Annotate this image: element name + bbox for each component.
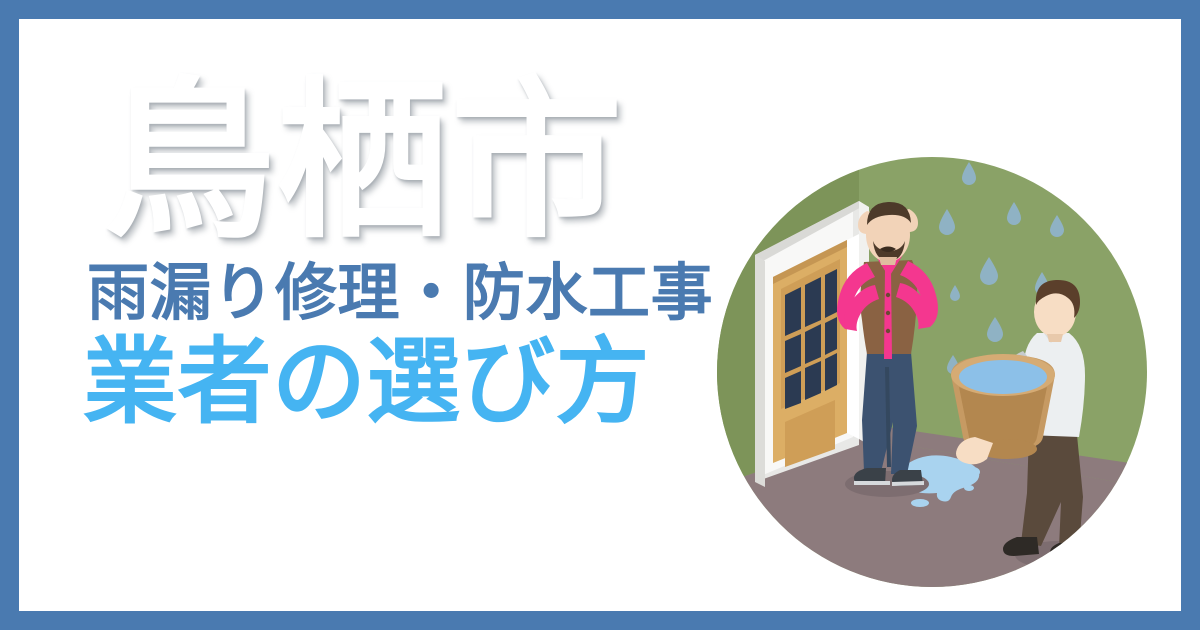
bucket-man-neck [1047, 334, 1063, 342]
page-title: 鳥栖市 [103, 71, 731, 253]
scene-clip-group [707, 137, 1157, 589]
headline-block: 鳥栖市 雨漏り修理・防水工事 業者の選び方 [81, 71, 731, 435]
shoe-sole-left [854, 481, 890, 485]
distressed-man-neck [879, 257, 897, 265]
illustration-rain-leak [707, 137, 1157, 589]
banner-canvas: 鳥栖市 雨漏り修理・防水工事 業者の選び方 [19, 19, 1181, 611]
bucket-water [959, 360, 1047, 394]
service-subtitle: 雨漏り修理・防水工事 [87, 259, 731, 327]
choose-contractor-heading: 業者の選び方 [83, 330, 731, 435]
banner-frame: 鳥栖市 雨漏り修理・防水工事 業者の選び方 [0, 0, 1200, 630]
door-jamb-right [847, 234, 859, 439]
door-casing-left [755, 255, 765, 487]
